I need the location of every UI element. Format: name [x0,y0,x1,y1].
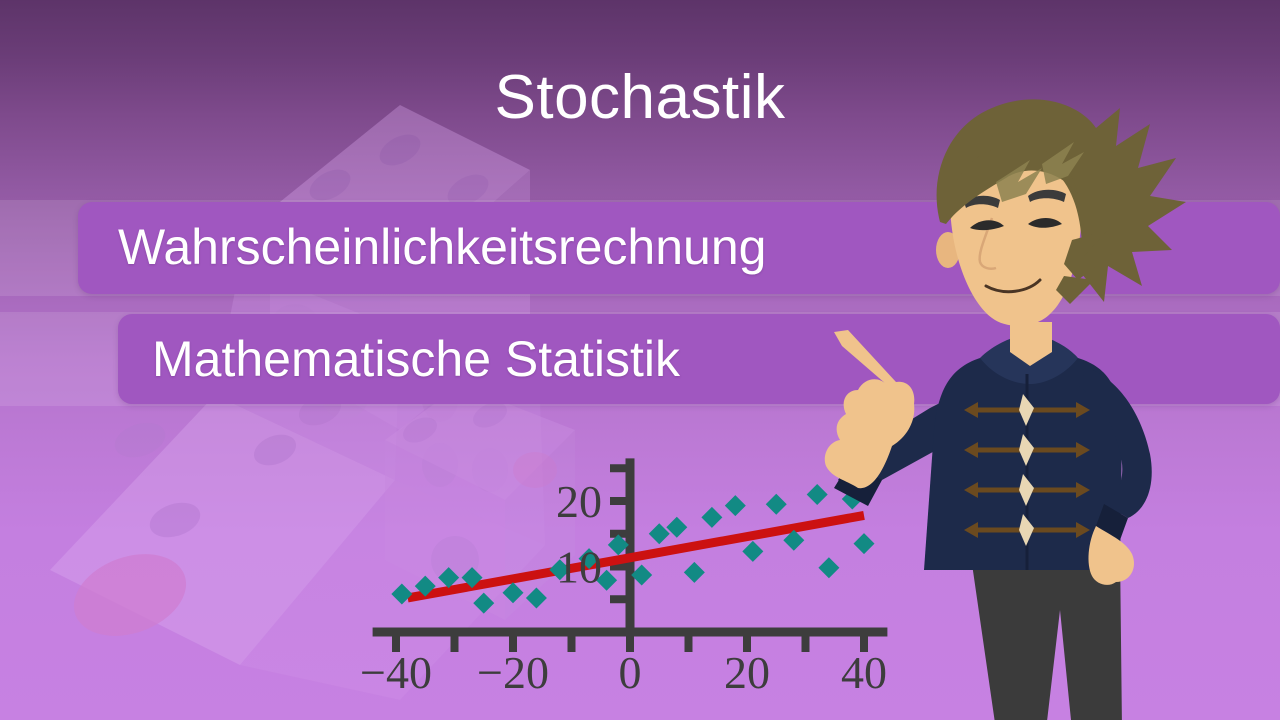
trend-line [408,515,864,598]
data-point [684,562,705,583]
x-tick-label: 0 [619,647,642,698]
banner-label-mathematische-statistik: Mathematische Statistik [152,330,680,388]
x-tick-labels: −40−2002040 [360,647,887,698]
data-point [503,582,524,603]
data-point [473,593,494,614]
data-point [742,541,763,562]
x-tick-label: 20 [724,647,770,698]
slide-canvas: Stochastik Wahrscheinlichkeitsrechnung M… [0,0,1280,720]
data-point [766,494,787,515]
x-tick-label: −40 [360,647,432,698]
x-tick-label: −20 [477,647,549,698]
data-point [701,507,722,528]
data-point [666,517,687,538]
presenter-svg [820,90,1280,720]
banner-label-wahrscheinlichkeitsrechnung: Wahrscheinlichkeitsrechnung [118,218,766,276]
y-tick-label: 20 [556,476,602,527]
data-point [649,523,670,544]
y-tick-labels: 1020 [556,476,602,593]
avatar-head [936,99,1186,325]
data-point [725,495,746,516]
presenter-avatar [820,90,1280,720]
y-tick-label: 10 [556,542,602,593]
data-point [526,587,547,608]
